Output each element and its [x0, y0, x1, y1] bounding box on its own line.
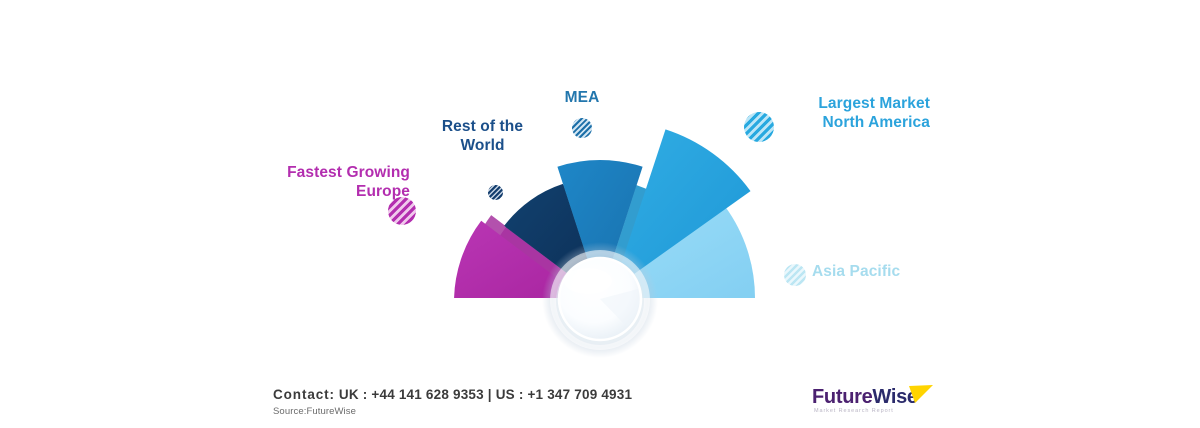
striped-circle-icon-mea — [572, 118, 592, 138]
source-line: Source:FutureWise — [273, 406, 356, 417]
logo-wordmark: FutureWise — [812, 386, 918, 409]
contact-detail: UK : +44 141 628 9353 | US : +1 347 709 … — [335, 387, 632, 402]
arrow-icon — [908, 384, 934, 406]
label-mea: MEA — [532, 89, 632, 108]
striped-circle-icon-asia-pacific — [784, 264, 806, 286]
label-asia-pacific: Asia Pacific — [812, 263, 972, 282]
label-europe: Fastest Growing Europe — [248, 164, 410, 202]
label-north-america: Largest Market North America — [770, 95, 930, 133]
regional-share-chart — [0, 0, 1200, 360]
futurewise-logo[interactable]: FutureWise Market Research Report — [812, 384, 932, 422]
contact-line: Contact: UK : +44 141 628 9353 | US : +1… — [273, 387, 632, 402]
chart-center-knob — [542, 242, 658, 358]
striped-circle-icon-rest-of-world — [488, 185, 503, 200]
logo-tagline: Market Research Report — [814, 408, 894, 414]
footer: Contact: UK : +44 141 628 9353 | US : +1… — [0, 360, 1200, 428]
label-rest-of-world: Rest of the World — [410, 118, 555, 156]
logo-name-first: Future — [812, 386, 872, 408]
contact-lead: Contact: — [273, 387, 335, 402]
infographic-canvas: Largest Market North America MEA Rest of… — [0, 0, 1200, 428]
